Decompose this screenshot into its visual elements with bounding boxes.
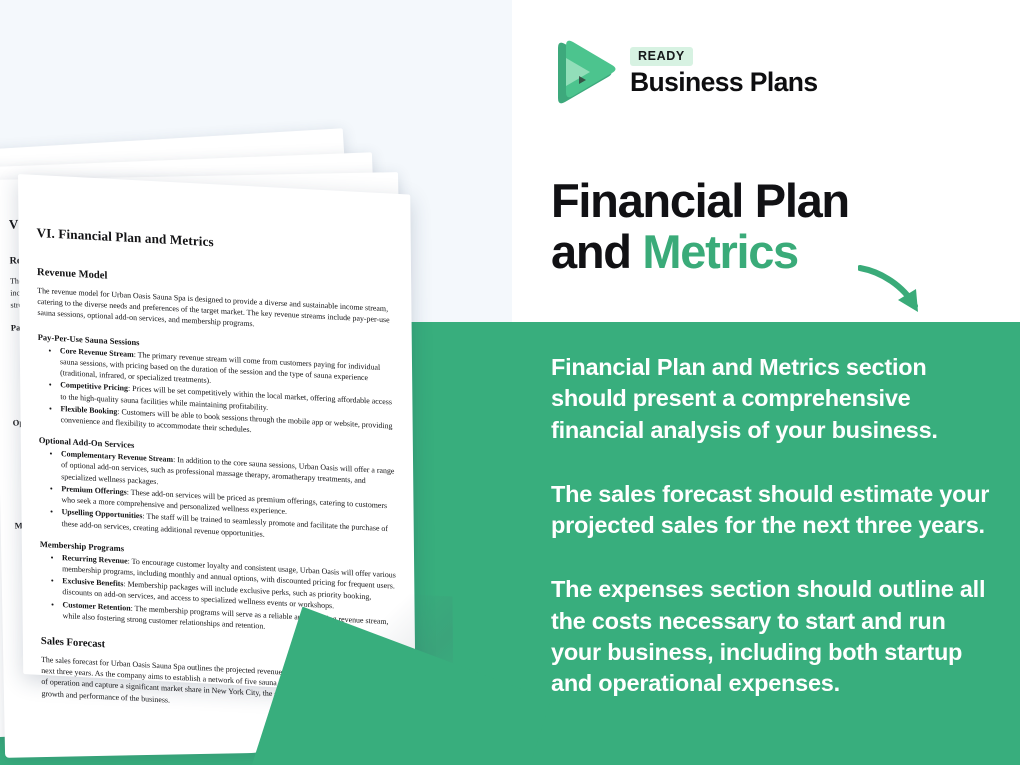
- document-bullet-term: Upselling Opportunities: [61, 507, 142, 520]
- document-section-bullets: Core Revenue Stream: The primary revenue…: [38, 344, 395, 443]
- background-page-fragment-title-2: V: [9, 215, 19, 234]
- document-section-bullets: Complementary Revenue Stream: In additio…: [39, 447, 396, 546]
- body-paragraph-1: Financial Plan and Metrics section shoul…: [551, 352, 1001, 446]
- headline-line-2-accent: Metrics: [642, 225, 797, 278]
- document-bullet-term: Core Revenue Stream: [60, 346, 134, 359]
- headline-line-2-prefix: and: [551, 225, 642, 278]
- brand-logo[interactable]: READY Business Plans: [548, 36, 818, 108]
- ready-badge: READY: [630, 47, 693, 66]
- document-sections: Pay-Per-Use Sauna SessionsCore Revenue S…: [38, 332, 397, 639]
- document-bullet-term: Flexible Booking: [60, 404, 117, 416]
- document-stack: V V Re The inc stre Pay Op M VI. Financi…: [0, 0, 560, 765]
- slide-canvas: V V Re The inc stre Pay Op M VI. Financi…: [0, 0, 1020, 765]
- body-paragraph-2: The sales forecast should estimate your …: [551, 479, 1001, 542]
- document-bullet-term: Premium Offerings: [61, 484, 127, 496]
- brand-text-block: READY Business Plans: [630, 47, 818, 97]
- document-bullet-term: Complementary Revenue Stream: [61, 449, 173, 464]
- front-page-wrapper: VI. Financial Plan and Metrics Revenue M…: [18, 174, 415, 695]
- brand-name: Business Plans: [630, 69, 818, 97]
- document-bullet-term: Recurring Revenue: [62, 553, 128, 565]
- curved-arrow-down-right-icon: [858, 262, 948, 320]
- body-paragraph-3: The expenses section should outline all …: [551, 574, 1001, 699]
- headline-line-1: Financial Plan: [551, 174, 849, 227]
- document-bullet-term: Customer Retention: [62, 600, 130, 613]
- body-copy: Financial Plan and Metrics section shoul…: [551, 352, 1001, 699]
- play-triangle-logo-icon: [548, 36, 616, 108]
- document-bullet-term: Exclusive Benefits: [62, 576, 123, 588]
- document-bullet-term: Competitive Pricing: [60, 380, 128, 393]
